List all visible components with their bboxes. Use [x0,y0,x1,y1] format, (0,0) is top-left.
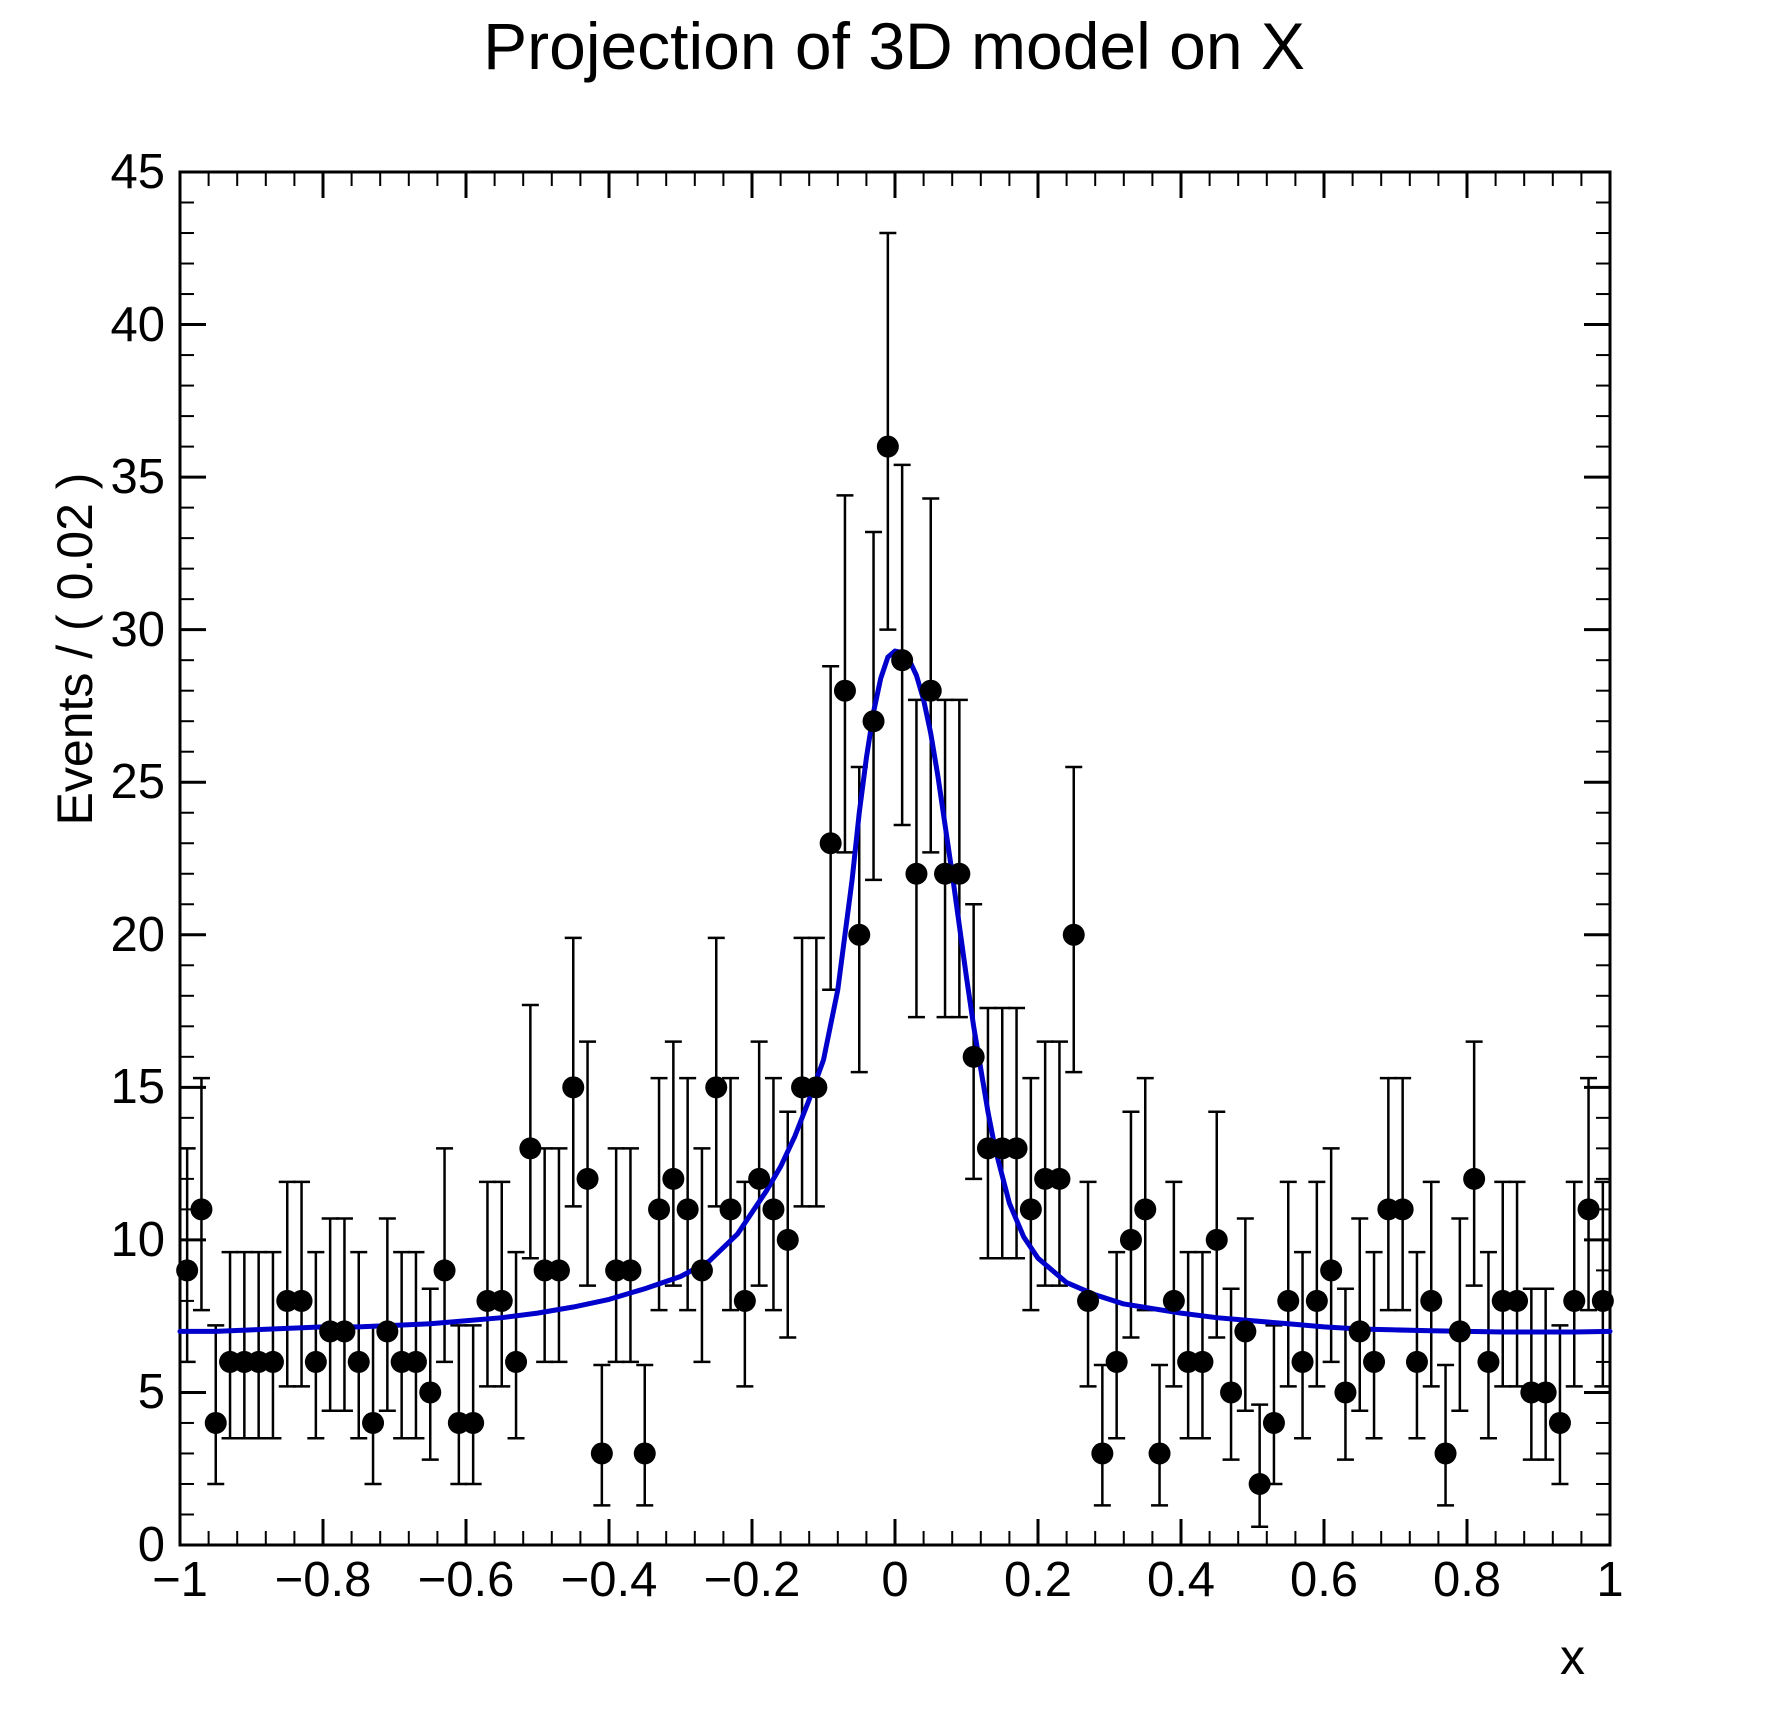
plot-canvas [0,0,1788,1716]
fit-curve [180,651,1610,1332]
chart-root: Projection of 3D model on X Events / ( 0… [0,0,1788,1716]
data-points [176,436,1614,1495]
